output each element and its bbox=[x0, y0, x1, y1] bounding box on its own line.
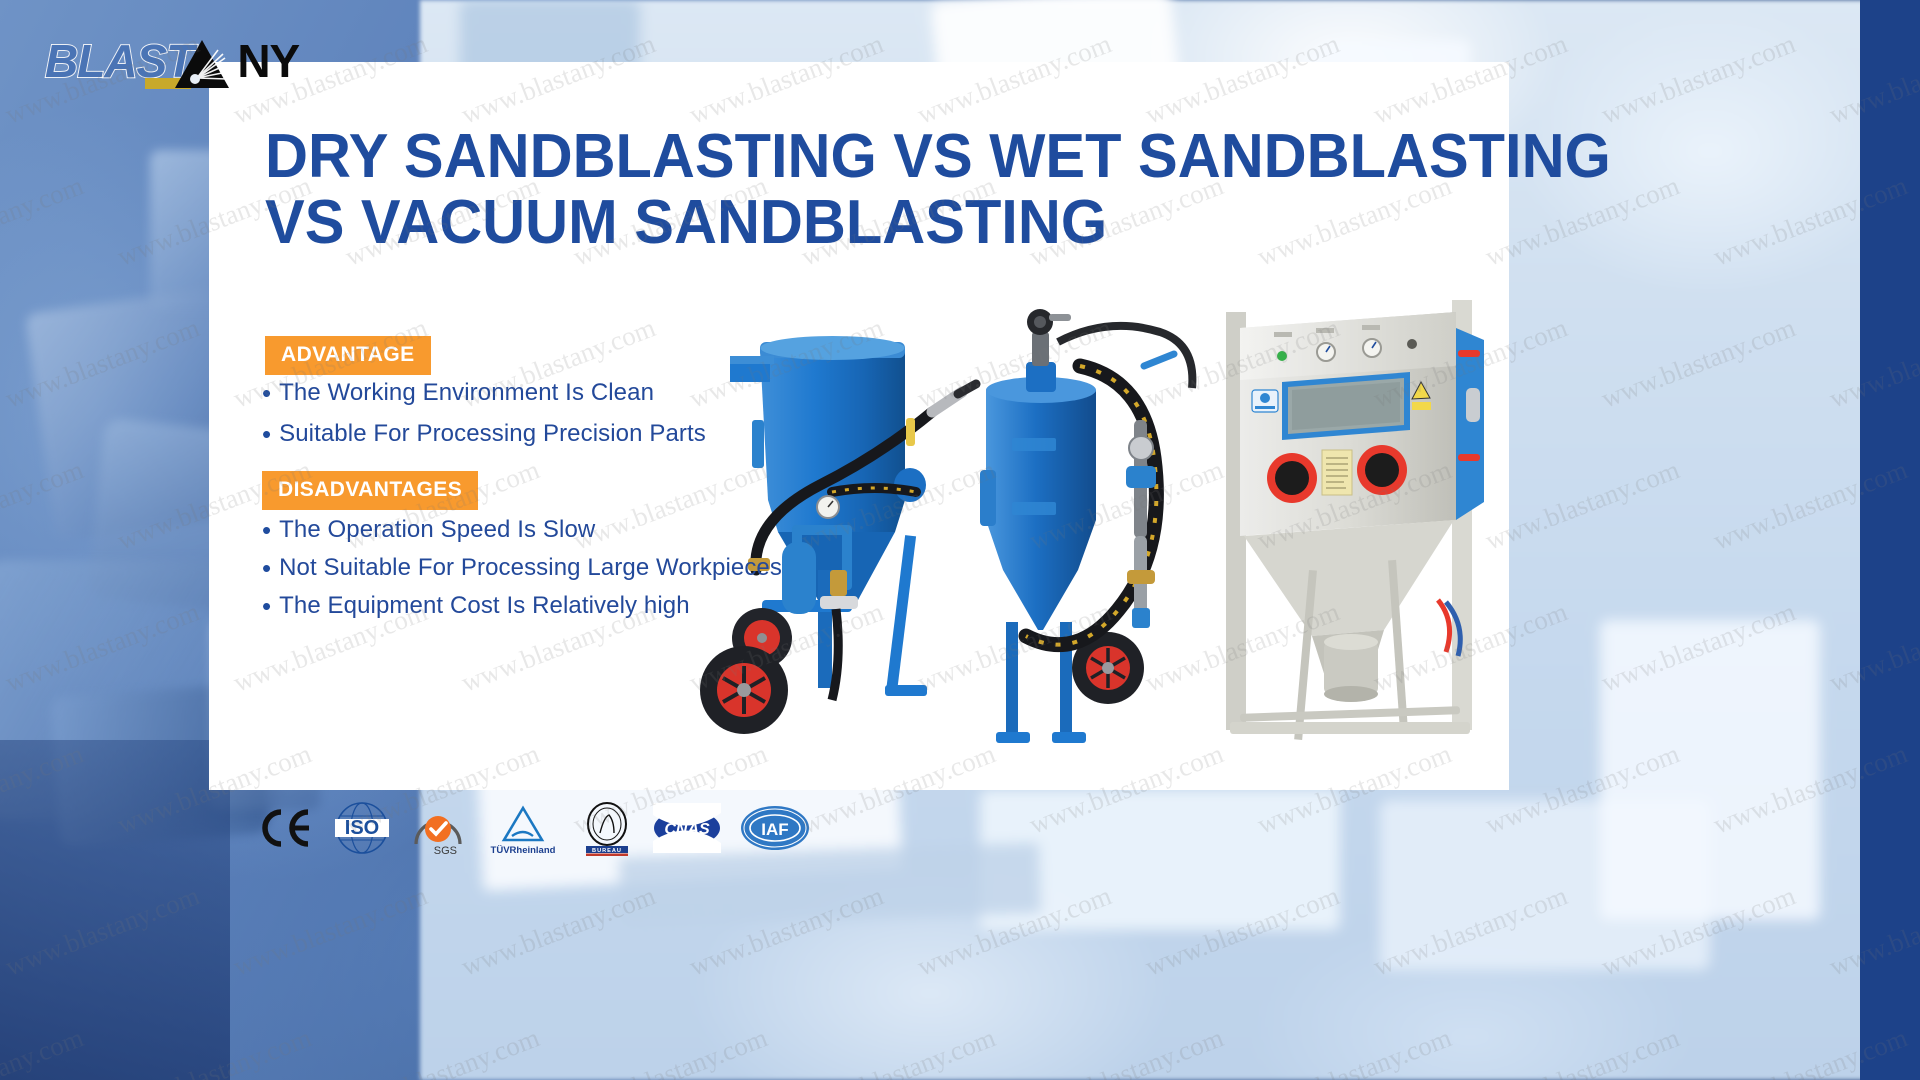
brand-logo[interactable]: BLAST NY bbox=[45, 30, 299, 92]
advantage-badge: ADVANTAGE bbox=[265, 336, 431, 375]
cert-iso-icon: ISO bbox=[333, 800, 391, 856]
background-right-band bbox=[1860, 0, 1920, 1080]
bullet-dot-icon: • bbox=[262, 555, 271, 581]
page-title-line2: VS VACUUM SANDBLASTING bbox=[265, 190, 1446, 256]
svg-text:CNAS: CNAS bbox=[664, 821, 710, 838]
bullet-dot-icon: • bbox=[262, 421, 271, 447]
product-wet-sandblasting-machine bbox=[980, 309, 1192, 743]
list-item: • The Equipment Cost Is Relatively high bbox=[262, 591, 782, 620]
disadvantage-item-text: The Operation Speed Is Slow bbox=[279, 516, 595, 544]
bullet-dot-icon: • bbox=[262, 380, 271, 406]
list-item: • Suitable For Processing Precision Part… bbox=[262, 419, 706, 448]
disadvantage-item-text: The Equipment Cost Is Relatively high bbox=[279, 592, 690, 620]
logo-secondary-text: NY bbox=[237, 34, 299, 88]
page-title-line1: DRY SANDBLASTING VS WET SANDBLASTING bbox=[265, 124, 1446, 190]
svg-text:ISO: ISO bbox=[345, 817, 379, 839]
advantage-list: • The Working Environment Is Clean • Sui… bbox=[262, 378, 706, 460]
cert-sgs-icon: SGS bbox=[410, 800, 466, 856]
svg-text:TÜVRheinland: TÜVRheinland bbox=[491, 845, 556, 856]
page-title: DRY SANDBLASTING VS WET SANDBLASTING VS … bbox=[265, 124, 1495, 256]
svg-text:BUREAU: BUREAU bbox=[592, 848, 622, 854]
bullet-dot-icon: • bbox=[262, 517, 271, 543]
disadvantages-badge: DISADVANTAGES bbox=[262, 471, 478, 510]
product-vacuum-sandblasting-cabinet bbox=[1226, 300, 1484, 740]
svg-text:SGS: SGS bbox=[434, 845, 457, 856]
disadvantage-item-text: Not Suitable For Processing Large Workpi… bbox=[279, 554, 782, 582]
cert-cnas-icon: CNAS bbox=[653, 800, 721, 856]
cert-iaf-icon: IAF bbox=[740, 800, 810, 856]
list-item: • Not Suitable For Processing Large Work… bbox=[262, 553, 782, 582]
advantage-item-text: Suitable For Processing Precision Parts bbox=[279, 420, 706, 448]
bullet-dot-icon: • bbox=[262, 593, 271, 619]
product-images bbox=[700, 270, 1500, 770]
cert-tuv-rheinland-icon: TÜVRheinland bbox=[485, 800, 561, 856]
background-left-wedge bbox=[0, 740, 230, 1080]
list-item: • The Working Environment Is Clean bbox=[262, 378, 706, 407]
cert-ce-icon bbox=[258, 800, 314, 856]
cert-bureau-veritas-icon: BUREAU bbox=[580, 800, 634, 856]
disadvantages-list: • The Operation Speed Is Slow • Not Suit… bbox=[262, 515, 782, 629]
blast-nozzle-icon bbox=[173, 38, 231, 90]
list-item: • The Operation Speed Is Slow bbox=[262, 515, 782, 544]
svg-text:IAF: IAF bbox=[761, 820, 788, 839]
certification-logos: ISO SGS TÜVRheinland BUREAU bbox=[258, 800, 810, 856]
advantage-item-text: The Working Environment Is Clean bbox=[279, 379, 654, 407]
